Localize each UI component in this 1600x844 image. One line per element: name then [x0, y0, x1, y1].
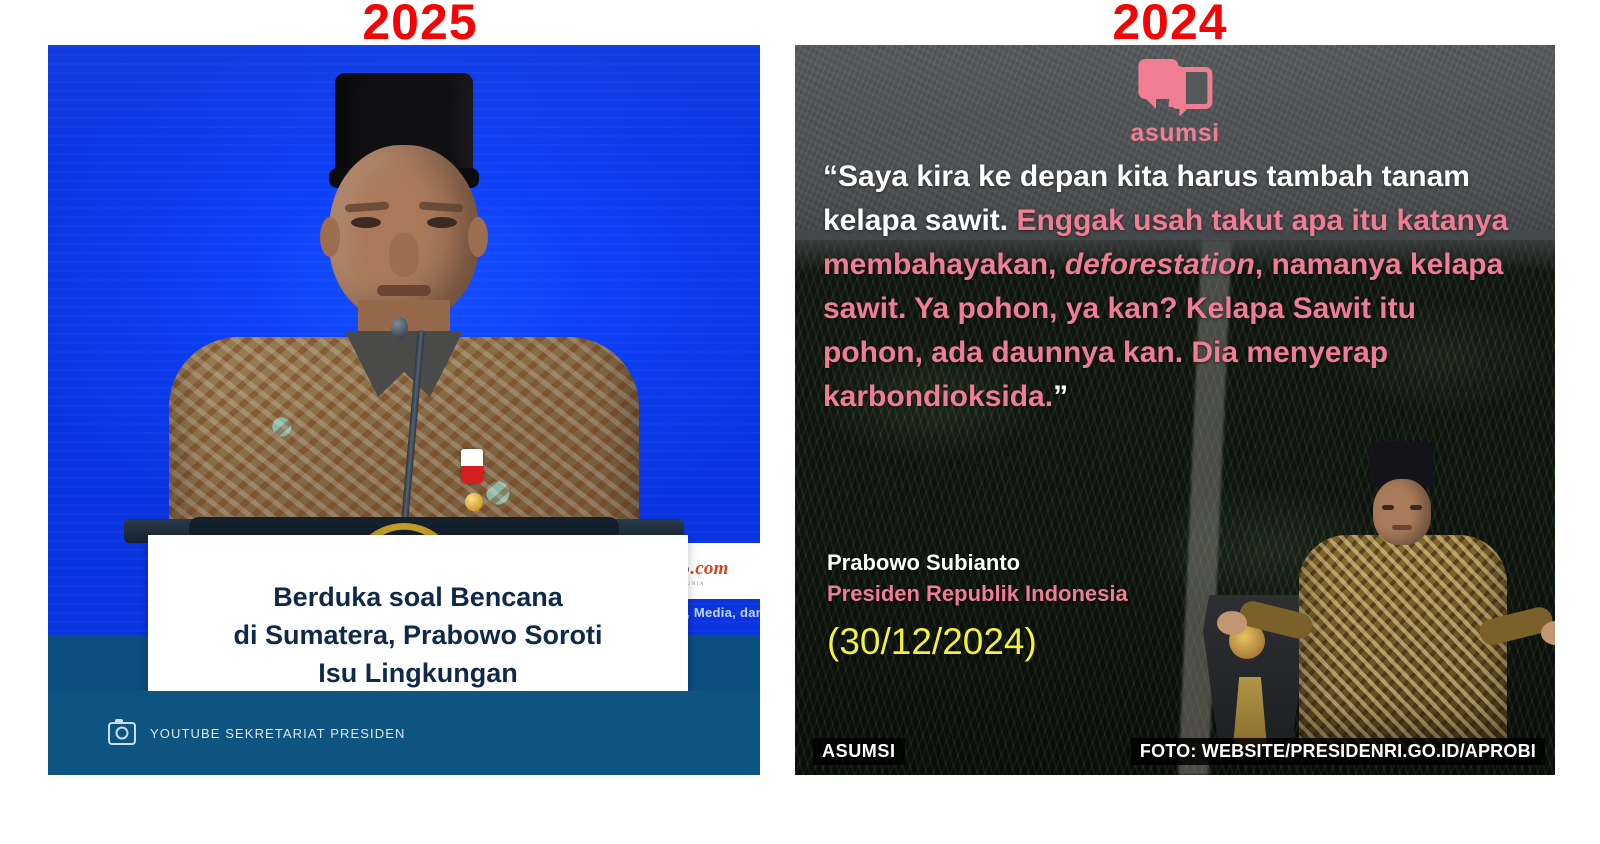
comparison-graphic: 2025 2024: [0, 0, 1600, 844]
speech-bubbles-face-icon: [1138, 57, 1212, 117]
headline-line-2: di Sumatera, Prabowo Soroti: [233, 620, 602, 650]
face: [329, 145, 479, 321]
eye-right: [427, 217, 457, 228]
quote-closing-mark: ”: [1053, 380, 1068, 413]
year-label-left: 2025: [250, 0, 590, 47]
ear-right: [468, 217, 488, 257]
eyebrow-right: [419, 201, 463, 212]
cutout-eye-left: [1382, 505, 1394, 510]
footer-bar: ASUMSI FOTO: WEBSITE/PRESIDENRI.GO.ID/AP…: [795, 727, 1555, 775]
ear-left: [320, 217, 340, 257]
headline-line-3: Isu Lingkungan: [318, 658, 518, 688]
cutout-hand-left: [1217, 611, 1247, 635]
footer-photo-credit: FOTO: WEBSITE/PRESIDENRI.GO.ID/APROBI: [1131, 738, 1545, 765]
mouth: [377, 285, 431, 296]
nose: [389, 233, 419, 277]
flag-pin: [461, 449, 483, 483]
kompas-news-card: ers, Media, dan KOMPAS.com JERNIH MELIHA…: [48, 45, 760, 775]
headline-line-1: Berduka soal Bencana: [273, 582, 563, 612]
prabowo-cutout-figure: [1187, 435, 1547, 755]
footer-brand-tag: ASUMSI: [813, 738, 905, 765]
medal-badge: [465, 493, 483, 511]
year-label-right: 2024: [1000, 0, 1340, 47]
quote-part-3-italic: deforestation: [1065, 248, 1255, 281]
headline-text: Berduka soal Bencana di Sumatera, Prabow…: [215, 578, 620, 693]
cutout-mouth: [1392, 525, 1412, 530]
asumsi-logo: asumsi: [1130, 57, 1219, 148]
cutout-face: [1373, 479, 1431, 545]
photo-credit-text: YOUTUBE SEKRETARIAT PRESIDEN: [150, 726, 405, 741]
asumsi-wordmark: asumsi: [1130, 119, 1219, 148]
quote-text: “Saya kira ke depan kita harus tambah ta…: [823, 155, 1513, 420]
eyebrow-left: [345, 201, 389, 212]
asumsi-quote-card: asumsi “Saya kira ke depan kita harus ta…: [795, 45, 1555, 775]
photo-credit-bar: YOUTUBE SEKRETARIAT PRESIDEN: [48, 691, 760, 775]
camera-icon: [108, 722, 136, 745]
eye-left: [351, 217, 381, 228]
cutout-batik-shirt: [1299, 535, 1507, 755]
kompas-dotcom: .com: [690, 558, 728, 579]
cutout-eye-right: [1410, 505, 1422, 510]
